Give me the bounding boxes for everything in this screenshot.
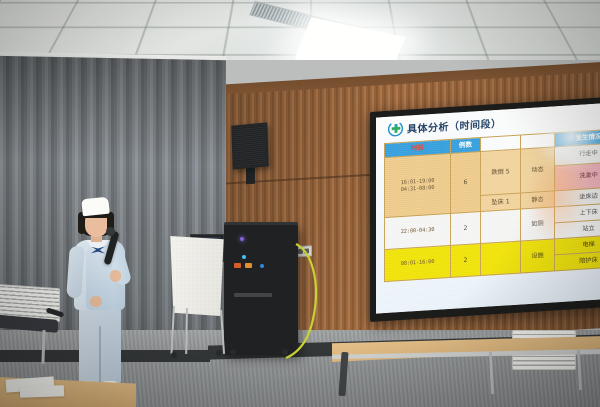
ceiling-tile [46,26,147,55]
cell-state-4: 设施 [521,239,555,273]
ceiling-tile [392,26,488,55]
cabinet-caster-right [282,349,288,355]
hospital-cross-logo [388,121,403,137]
ceiling-tile [62,2,156,28]
cell-count-3: 2 [451,244,481,278]
conference-room-scene: 具体分析（时间段） 时段 例数 类型 状态 发生情况 [0,0,600,407]
cabinet-caster-left [230,349,236,355]
cell-state-1: 动态 [521,147,555,193]
projection-screen[interactable]: 具体分析（时间段） 时段 例数 类型 状态 发生情况 [370,97,600,322]
cell-count-2: 2 [451,212,481,246]
lectern-caster-2 [216,350,222,356]
nurse-cap [81,197,110,217]
cell-situation-1: 行走中 [555,143,600,166]
nurse-presenter [62,198,142,398]
mobile-lectern[interactable] [168,236,226,316]
hand-right [110,270,121,282]
cell-type-4 [481,241,521,276]
control-button-orange[interactable] [245,263,252,268]
cell-situation-7: 陪护床 [555,251,600,271]
cell-count-1: 6 [451,152,481,214]
cell-state-3: 如厕 [521,207,555,241]
cell-type-1: 跌倒 5 [481,149,521,196]
cell-type-3 [481,209,521,244]
time-line-1: 16:01-19:00 04:31-08:00 [401,178,435,193]
power-led [240,237,244,241]
cell-time-2: 22:00-04:30 [385,213,451,249]
presentation-slide: 具体分析（时间段） 时段 例数 类型 状态 发生情况 [376,103,600,313]
cell-time-3: 08:01-16:00 [385,245,451,281]
ceiling-tile [388,2,478,28]
analysis-table: 时段 例数 类型 状态 发生情况 16:01-19:00 04:31-08:00 [384,128,600,282]
indicator-led-blue [260,264,264,268]
control-button-red[interactable] [234,263,241,268]
lectern-caster-1 [171,352,177,358]
documents-second[interactable] [20,385,64,398]
panel-strip [234,293,272,297]
slide-title-row: 具体分析（时间段） [388,115,502,137]
hand-left [90,296,102,307]
slide-title: 具体分析（时间段） [407,115,502,136]
av-equipment-cabinet[interactable] [224,225,298,355]
office-chair[interactable] [0,286,64,332]
ceiling-tile [134,26,229,55]
cell-situation-2: 洗漱中 [555,162,600,191]
screen-display-area: 具体分析（时间段） 时段 例数 类型 状态 发生情况 [376,103,600,313]
wall-mounted-speaker [231,122,269,169]
cell-time-1: 16:01-19:00 04:31-08:00 [385,153,451,217]
ceiling-tile [144,2,234,28]
trouser-seam [99,326,101,384]
indicator-led-cyan [242,255,246,259]
